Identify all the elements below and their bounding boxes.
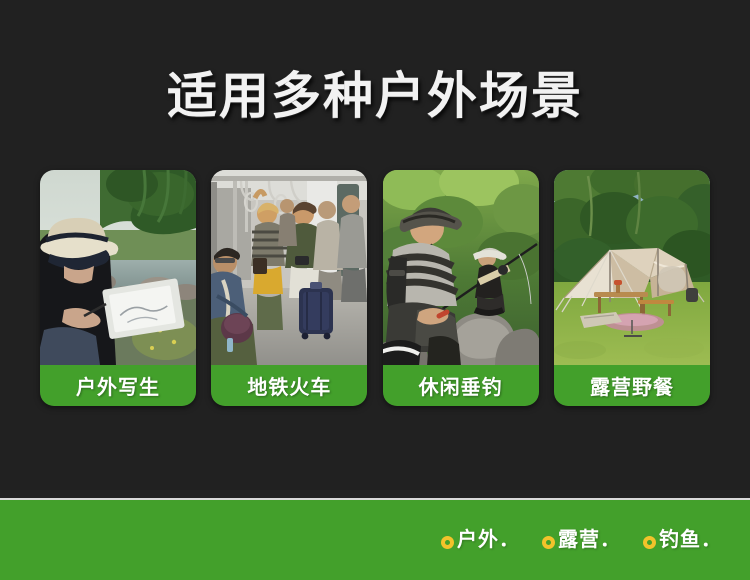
ring-icon xyxy=(441,536,454,549)
tag-label: 露营． xyxy=(558,529,621,551)
scene-card-outdoor-sketching[interactable]: 户外写生 xyxy=(40,170,196,406)
tag-label: 钓鱼． xyxy=(659,529,722,551)
bottom-tag-bar: 户外． 露营． 钓鱼． xyxy=(0,498,750,580)
scene-card-label: 户外写生 xyxy=(40,365,196,406)
tag-list: 户外． 露营． 钓鱼． xyxy=(441,529,722,551)
ring-icon xyxy=(643,536,656,549)
photo-subway-train xyxy=(211,170,367,365)
scene-card-label: 露营野餐 xyxy=(554,365,710,406)
scene-card-camping-picnic[interactable]: 露营野餐 xyxy=(554,170,710,406)
photo-fishing xyxy=(383,170,539,365)
tag-label: 户外． xyxy=(457,529,520,551)
photo-camping-picnic xyxy=(554,170,710,365)
photo-outdoor-sketching xyxy=(40,170,196,365)
scene-cards-row: 户外写生 xyxy=(40,170,710,406)
tag-item-outdoor[interactable]: 户外． xyxy=(441,529,520,551)
tag-item-camping[interactable]: 露营． xyxy=(542,529,621,551)
ring-icon xyxy=(542,536,555,549)
page-title: 适用多种户外场景 xyxy=(0,66,750,126)
tag-item-fishing[interactable]: 钓鱼． xyxy=(643,529,722,551)
scene-card-fishing[interactable]: 休闲垂钓 xyxy=(383,170,539,406)
scene-card-subway-train[interactable]: 地铁火车 xyxy=(211,170,367,406)
scene-card-label: 休闲垂钓 xyxy=(383,365,539,406)
scene-card-label: 地铁火车 xyxy=(211,365,367,406)
